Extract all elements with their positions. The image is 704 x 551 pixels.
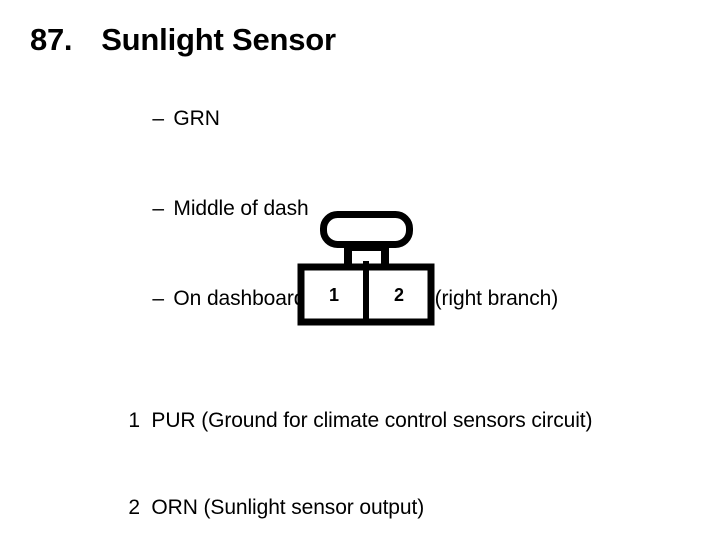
dash-marker: – <box>152 104 173 134</box>
page-header: 87. Sunlight Sensor <box>30 22 336 58</box>
diagram-page: 87. Sunlight Sensor –GRN –Middle of dash… <box>0 0 704 502</box>
description-item-label: GRN <box>173 107 219 130</box>
dash-marker: – <box>152 284 173 314</box>
pin-description: ORN (Sunlight sensor output) <box>151 496 424 519</box>
pin-legend-row: 1PUR (Ground for climate control sensors… <box>94 377 592 464</box>
description-item: –GRN <box>118 74 558 164</box>
connector-cavity-divider <box>363 261 369 322</box>
connector-latch-outline <box>324 215 410 245</box>
pin-legend-row: 2ORN (Sunlight sensor output) <box>94 464 592 551</box>
pin-number: 1 <box>128 406 151 435</box>
pin-number: 2 <box>128 493 151 522</box>
dash-marker: – <box>152 194 173 224</box>
section-number: 87. <box>30 22 72 58</box>
connector-diagram: 1 2 <box>288 206 444 330</box>
pin-description: PUR (Ground for climate control sensors … <box>151 409 592 432</box>
cavity-number-2: 2 <box>394 285 404 305</box>
cavity-number-1: 1 <box>329 285 339 305</box>
page-title: Sunlight Sensor <box>101 22 336 58</box>
pin-legend: 1PUR (Ground for climate control sensors… <box>94 377 592 551</box>
